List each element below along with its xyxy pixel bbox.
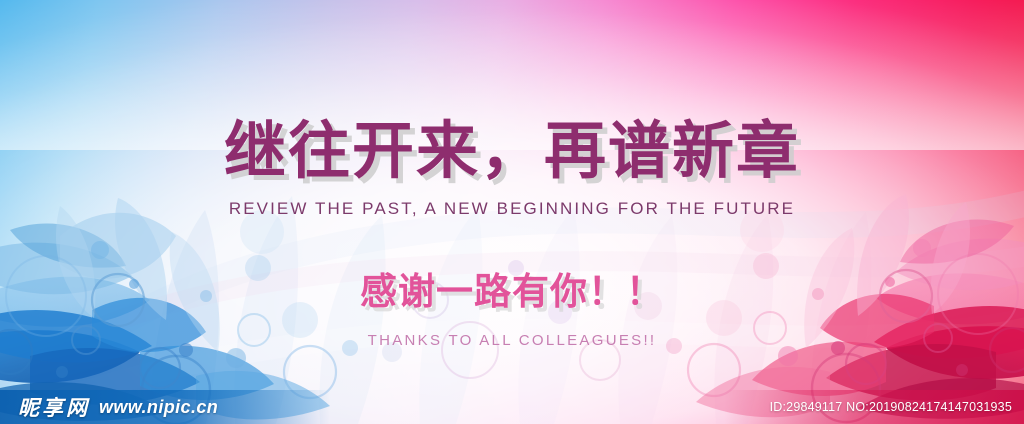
poster-banner: 继往开来，再谱新章 REVIEW THE PAST, A NEW BEGINNI…	[0, 0, 1024, 424]
page-subtitle: REVIEW THE PAST, A NEW BEGINNING FOR THE…	[229, 199, 795, 219]
thanks-heading: 感谢一路有你！！	[360, 261, 664, 315]
thanks-subheading: THANKS TO ALL COLLEAGUES!!	[368, 332, 657, 349]
image-id-label: ID:29849117 NO:20190824174147031935	[770, 400, 1024, 414]
watermark-brand[interactable]: 昵享网 www.nipic.cn	[0, 390, 218, 424]
page-title: 继往开来，再谱新章	[224, 116, 800, 185]
poster-content: 继往开来，再谱新章 REVIEW THE PAST, A NEW BEGINNI…	[0, 0, 1024, 424]
watermark-footer: 昵享网 www.nipic.cn ID:29849117 NO:20190824…	[0, 390, 1024, 424]
nipic-logo: 昵享网	[18, 392, 90, 422]
nipic-url[interactable]: www.nipic.cn	[99, 397, 218, 418]
